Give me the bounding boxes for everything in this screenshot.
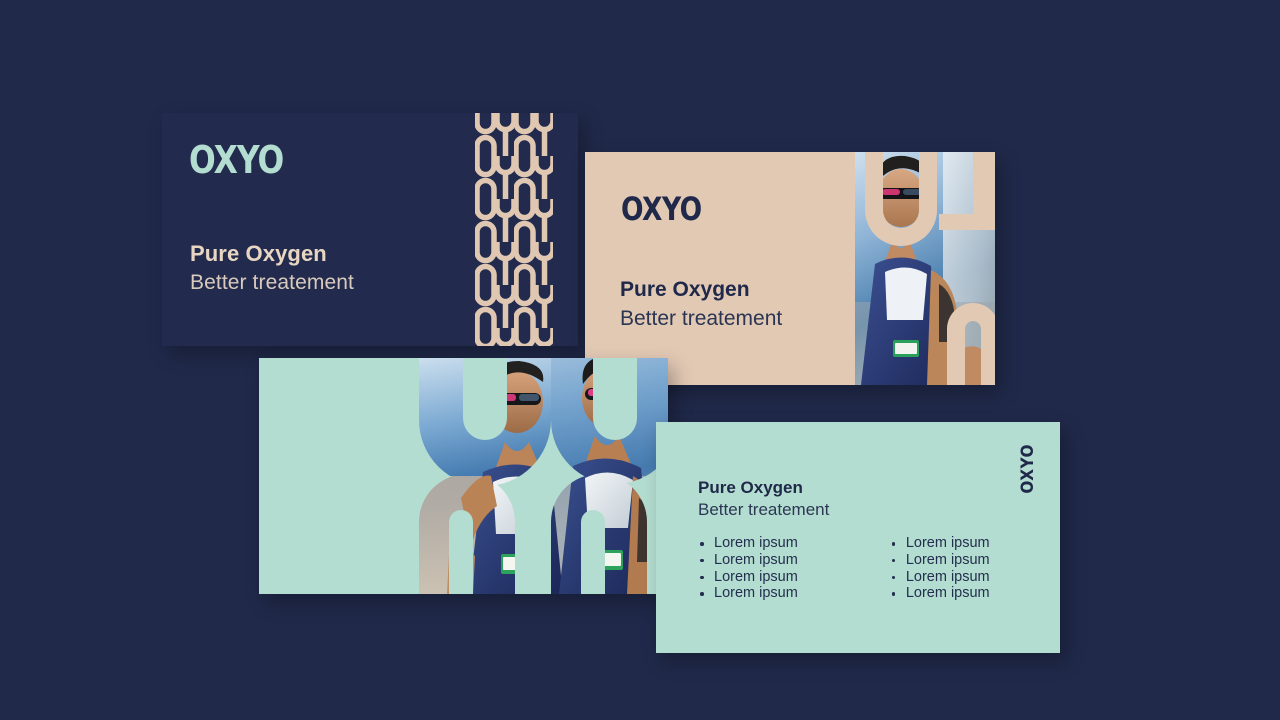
mockup-canvas: OXYO Pure Oxygen Better treatement	[0, 0, 1280, 720]
athlete-photo-masked	[855, 152, 995, 385]
bullet-columns: Lorem ipsum Lorem ipsum Lorem ipsum Lore…	[698, 535, 1028, 602]
mint-card-subhead: Better treatement	[698, 500, 829, 520]
beige-banner-card[interactable]: OXYO Pure Oxygen Better treatement	[585, 152, 995, 385]
list-item: Lorem ipsum	[698, 535, 798, 552]
mint-text-card[interactable]: OXYO Pure Oxygen Better treatement Lorem…	[656, 422, 1060, 653]
mint-photo-card[interactable]	[259, 358, 668, 594]
list-item: Lorem ipsum	[890, 585, 990, 602]
bullet-list-left: Lorem ipsum Lorem ipsum Lorem ipsum Lore…	[698, 535, 798, 602]
oxyo-logo: OXYO	[621, 190, 702, 228]
list-item: Lorem ipsum	[698, 585, 798, 602]
list-item: Lorem ipsum	[698, 569, 798, 586]
navy-banner-card[interactable]: OXYO Pure Oxygen Better treatement	[162, 113, 578, 346]
athletes-photo-masked	[401, 358, 668, 594]
list-item: Lorem ipsum	[890, 552, 990, 569]
beige-card-headline: Pure Oxygen	[620, 278, 750, 302]
oxyo-logo-vertical: OXYO	[1018, 444, 1038, 494]
navy-card-subhead: Better treatement	[190, 271, 354, 295]
list-item: Lorem ipsum	[890, 569, 990, 586]
oxyo-logo: OXYO	[189, 138, 283, 182]
beige-card-subhead: Better treatement	[620, 307, 782, 331]
navy-card-headline: Pure Oxygen	[190, 241, 327, 267]
list-item: Lorem ipsum	[698, 552, 798, 569]
oxyo-pattern-strip	[475, 113, 553, 346]
list-item: Lorem ipsum	[890, 535, 990, 552]
bullet-list-right: Lorem ipsum Lorem ipsum Lorem ipsum Lore…	[890, 535, 990, 602]
mint-card-headline: Pure Oxygen	[698, 478, 803, 498]
